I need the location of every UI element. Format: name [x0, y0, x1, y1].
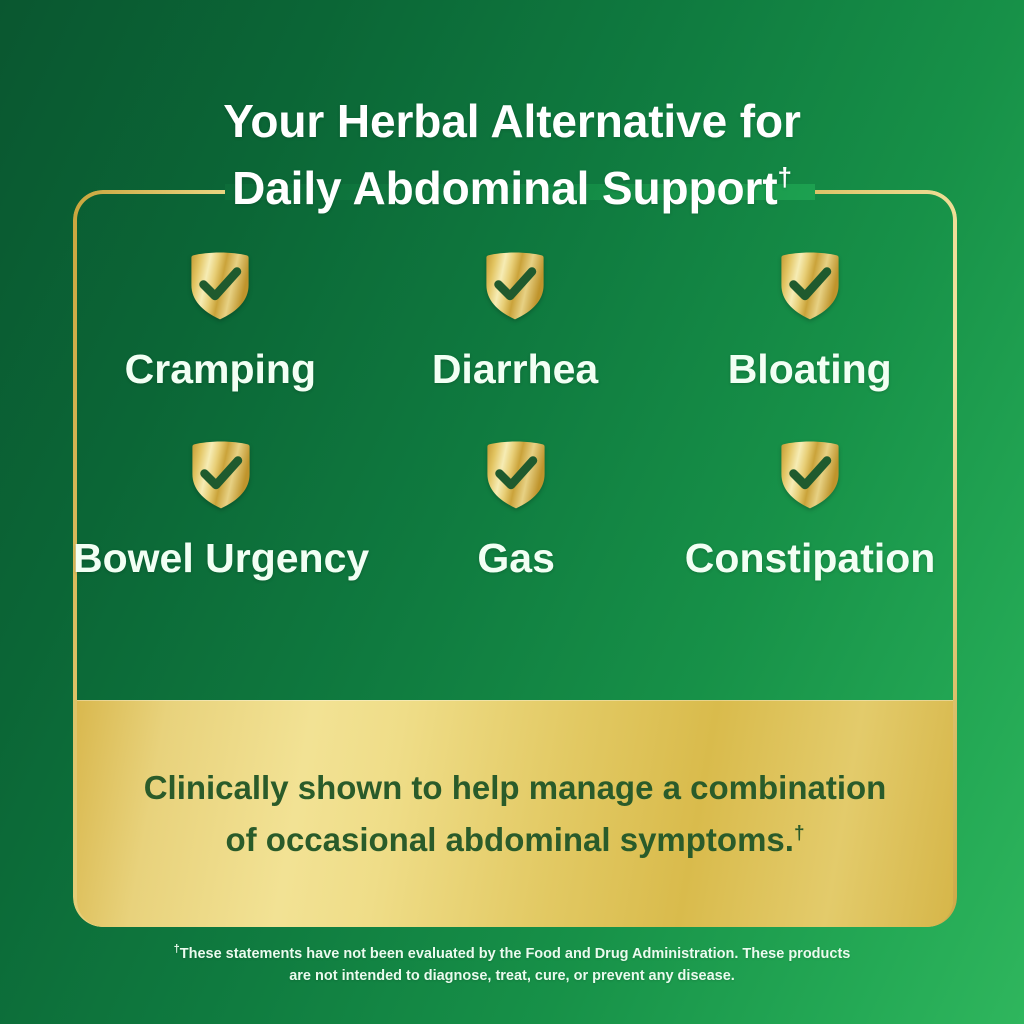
symptom-row-2: Bowel Urgency Gas Constipation	[73, 441, 957, 580]
symptom-label: Diarrhea	[432, 348, 598, 391]
headline-line-2-text: Daily Abdominal Support	[232, 162, 777, 214]
symptom-cell-gas: Gas	[369, 441, 663, 580]
gold-shield-check-icon	[780, 441, 840, 509]
symptom-grid: Cramping Diarrhea Bloating Bowel Urgency	[73, 252, 957, 580]
gold-shield-check-icon	[486, 441, 546, 509]
claim-line-2: of occasional abdominal symptoms.	[225, 821, 793, 858]
gold-shield-check-icon	[485, 252, 545, 320]
headline-dagger: †	[778, 162, 792, 192]
symptom-label: Gas	[477, 537, 555, 580]
symptom-label: Constipation	[685, 537, 936, 580]
disclaimer-line-1: These statements have not been evaluated…	[180, 946, 785, 962]
headline-line-2: Daily Abdominal Support†	[0, 155, 1024, 222]
fda-disclaimer: †These statements have not been evaluate…	[162, 944, 862, 988]
symptom-label: Bowel Urgency	[73, 537, 369, 580]
symptom-cell-cramping: Cramping	[73, 252, 368, 391]
symptom-cell-bowel-urgency: Bowel Urgency	[73, 441, 369, 580]
gold-shield-check-icon	[191, 441, 251, 509]
symptom-label: Bloating	[728, 348, 892, 391]
page-title: Your Herbal Alternative for Daily Abdomi…	[0, 88, 1024, 222]
gold-shield-check-icon	[190, 252, 250, 320]
symptom-cell-constipation: Constipation	[663, 441, 957, 580]
claim-banner: Clinically shown to help manage a combin…	[77, 700, 953, 927]
gold-shield-check-icon	[780, 252, 840, 320]
claim-banner-text: Clinically shown to help manage a combin…	[108, 762, 923, 864]
claim-dagger: †	[794, 823, 805, 844]
symptom-cell-bloating: Bloating	[662, 252, 957, 391]
symptom-cell-diarrhea: Diarrhea	[368, 252, 663, 391]
symptom-row-1: Cramping Diarrhea Bloating	[73, 252, 957, 391]
claim-line-1: Clinically shown to help manage a combin…	[144, 769, 887, 806]
headline-line-1: Your Herbal Alternative for	[0, 88, 1024, 155]
symptom-label: Cramping	[125, 348, 316, 391]
